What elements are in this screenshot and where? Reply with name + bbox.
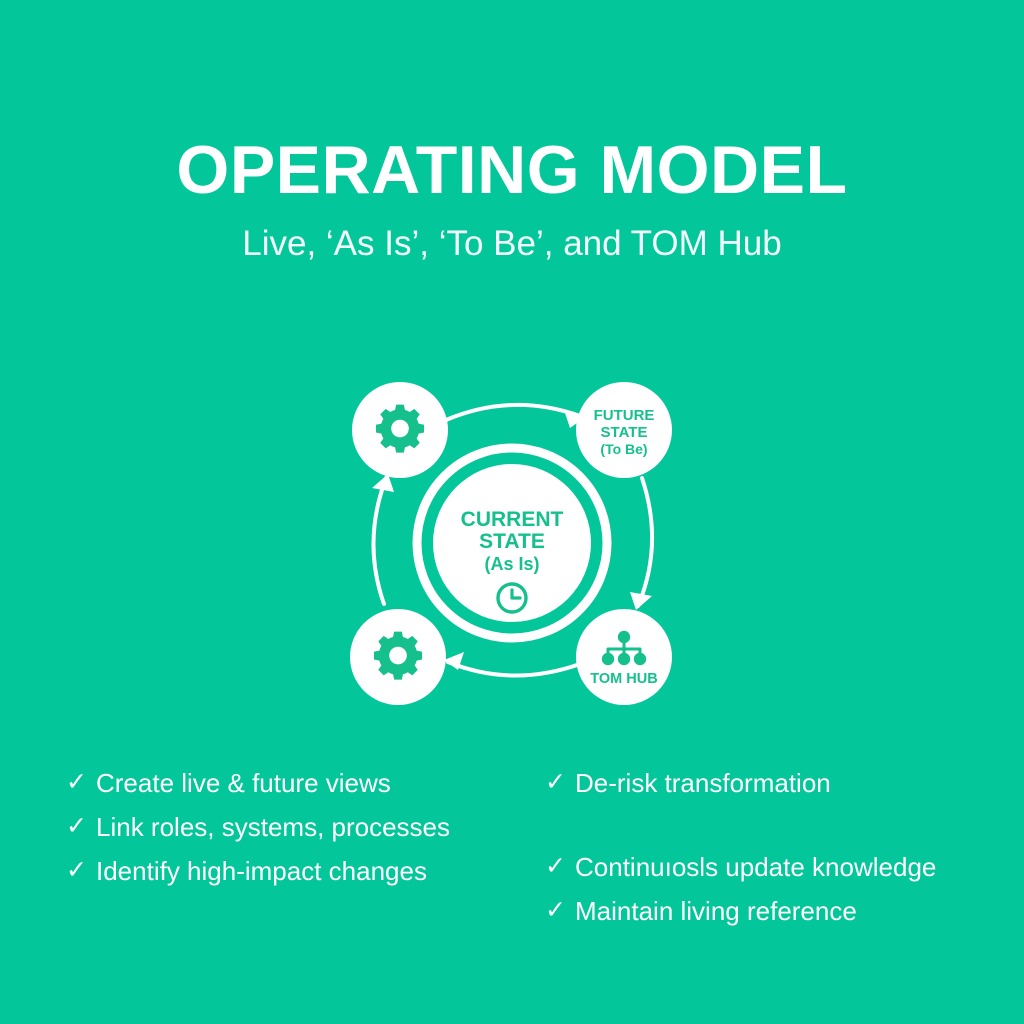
check-icon: ✓ — [66, 770, 96, 795]
operating-model-cycle-diagram: CURRENT STATE (As Is) FU — [312, 358, 712, 718]
center-node[interactable]: CURRENT STATE (As Is) — [417, 448, 607, 638]
node-tom-hub-label: TOM HUB — [590, 671, 657, 687]
node-future-state-label-line2: STATE — [601, 424, 648, 441]
benefits-lists: ✓ Create live & future views ✓ Link role… — [0, 770, 1024, 990]
page-subtitle: Live, ‘As Is’, ‘To Be’, and TOM Hub — [0, 226, 1024, 261]
list-item: ✓ Link roles, systems, processes — [66, 814, 536, 840]
node-bottom-left[interactable] — [350, 609, 446, 705]
list-item: ✓ Continuıosls update knowledge — [545, 854, 1015, 880]
center-label-line1: CURRENT — [461, 508, 564, 531]
node-top-left[interactable] — [352, 382, 448, 478]
check-icon: ✓ — [545, 854, 575, 879]
list-item: ✓ Maintain living reference — [545, 898, 1015, 924]
list-item-label: Maintain living reference — [575, 898, 857, 924]
node-future-state-label-line3: (To Be) — [600, 441, 647, 457]
check-icon: ✓ — [66, 858, 96, 883]
list-item-label: Link roles, systems, processes — [96, 814, 450, 840]
list-item: ✓ Identify high-impact changes — [66, 858, 536, 884]
slide-root: OPERATING MODEL Live, ‘As Is’, ‘To Be’, … — [0, 0, 1024, 1024]
arrow-top — [446, 405, 584, 428]
page-title: OPERATING MODEL — [0, 136, 1024, 204]
header: OPERATING MODEL Live, ‘As Is’, ‘To Be’, … — [0, 0, 1024, 261]
arrow-bottom — [444, 652, 580, 676]
gear-icon — [376, 405, 424, 453]
arrow-right — [630, 478, 652, 610]
list-item-label: Identify high-impact changes — [96, 858, 427, 884]
node-tom-hub[interactable]: TOM HUB — [576, 609, 672, 705]
center-label-line2: STATE — [479, 530, 545, 553]
list-item-label: De-risk transformation — [575, 770, 831, 796]
check-icon: ✓ — [66, 814, 96, 839]
list-item-label: Continuıosls update knowledge — [575, 854, 936, 880]
check-icon: ✓ — [545, 770, 575, 795]
gear-icon — [374, 632, 422, 680]
node-future-state[interactable]: FUTURE STATE (To Be) — [576, 382, 672, 478]
list-item: ✓ Create live & future views — [66, 770, 536, 796]
check-icon: ✓ — [545, 898, 575, 923]
benefits-list-right: ✓ De-risk transformation ✓ Continuıosls … — [545, 770, 1015, 942]
list-item: ✓ De-risk transformation — [545, 770, 1015, 796]
list-item-label: Create live & future views — [96, 770, 391, 796]
arrow-left — [372, 474, 394, 604]
benefits-list-left: ✓ Create live & future views ✓ Link role… — [66, 770, 536, 902]
center-label-line3: (As Is) — [484, 554, 539, 574]
node-future-state-label-line1: FUTURE — [594, 407, 655, 424]
